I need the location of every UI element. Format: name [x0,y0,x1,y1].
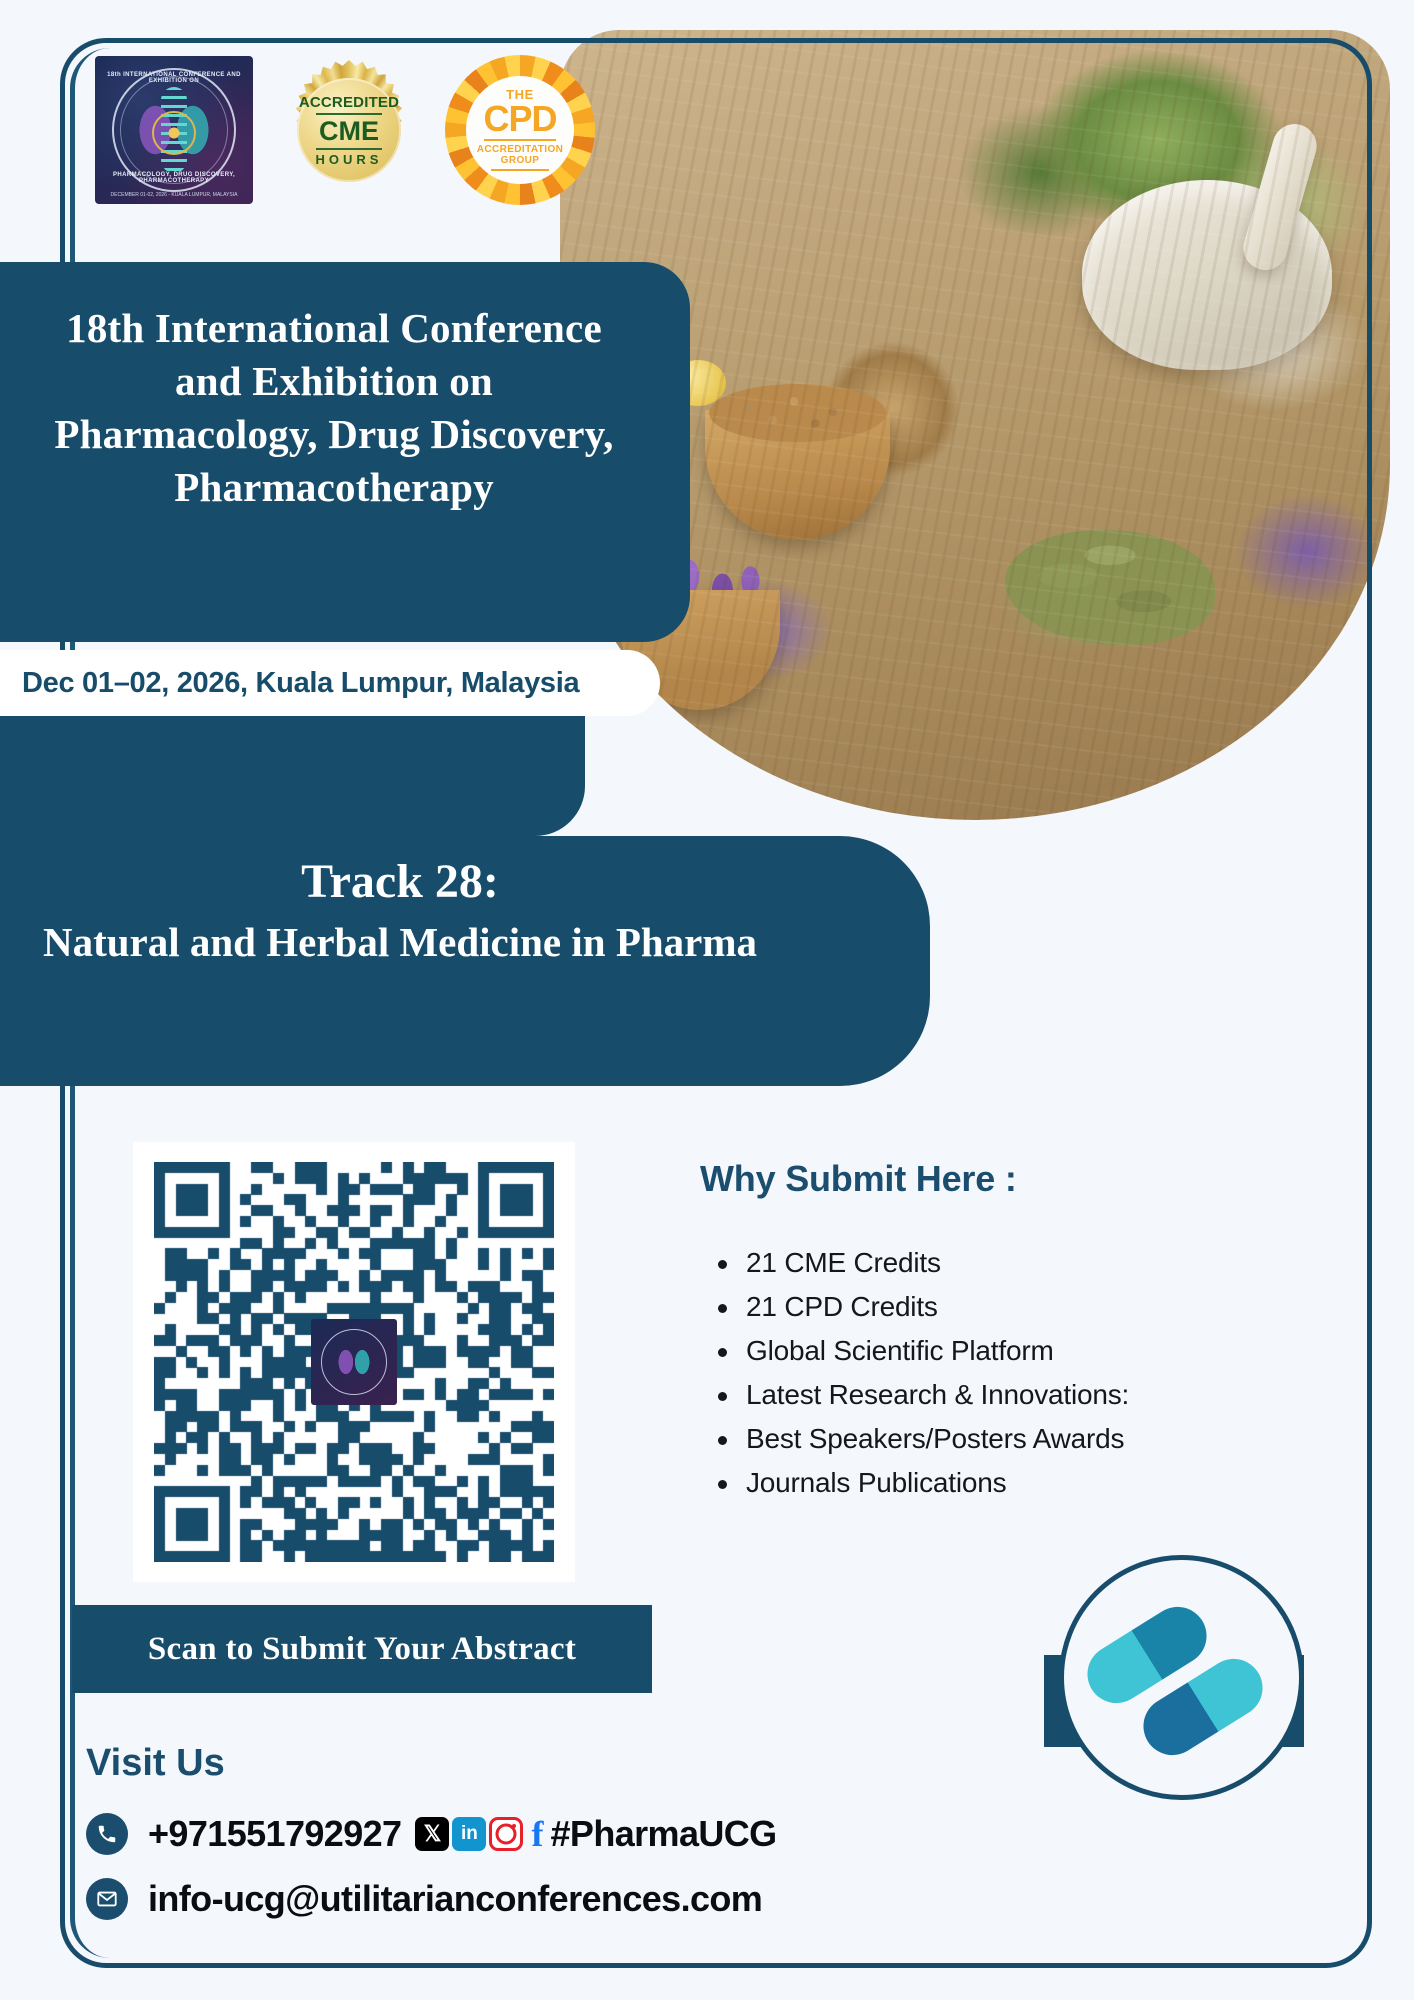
cme-accreditation-seal: ACCREDITED CME HOURS [279,60,419,200]
title-panel-tail [0,716,585,836]
envelope-icon [86,1878,128,1920]
conference-title-panel: 18th International Conference and Exhibi… [0,262,690,642]
conference-poster: 18th INTERNATIONAL CONFERENCE AND EXHIBI… [0,0,1414,2000]
cpd-divider-bottom [491,169,549,171]
list-item: Best Speakers/Posters Awards [712,1421,1332,1458]
hashtag-label: #PharmaUCG [550,1813,776,1855]
track-panel: Track 28: Natural and Herbal Medicine in… [0,836,930,1086]
date-location-text: Dec 01–02, 2026, Kuala Lumpur, Malaysia [22,667,579,700]
cpd-group-label: GROUP [501,155,540,166]
cpd-accreditation-label: ACCREDITATION [477,144,564,155]
email-address: info-ucg@utilitarianconferences.com [148,1878,762,1920]
page-title: 18th International Conference and Exhibi… [18,302,650,514]
qr-center-logo [311,1319,397,1405]
cpd-divider-top [484,139,556,141]
date-location-banner: Dec 01–02, 2026, Kuala Lumpur, Malaysia [0,650,660,716]
pestle [1238,119,1322,275]
cme-seal-face: ACCREDITED CME HOURS [297,78,401,182]
track-name: Natural and Herbal Medicine in Pharma [20,915,780,970]
why-submit-list: 21 CME Credits 21 CPD Credits Global Sci… [712,1245,1332,1509]
conference-seal-logo: 18th INTERNATIONAL CONFERENCE AND EXHIBI… [95,56,253,204]
cpd-accreditation-seal: THE CPD ACCREDITATION GROUP [445,55,595,205]
cme-divider-bottom [316,148,382,150]
track-number: Track 28: [20,854,780,909]
why-submit-heading: Why Submit Here : [700,1158,1017,1200]
seed-bowl [705,410,890,540]
cpd-label: CPD [483,102,556,136]
title-line-2: and Exhibition on [175,358,493,404]
cme-label: CME [319,118,379,145]
linkedin-icon[interactable]: in [452,1817,486,1851]
cme-accredited-label: ACCREDITED [299,94,399,111]
phone-icon [86,1813,128,1855]
scan-caption-bar: Scan to Submit Your Abstract [72,1605,652,1693]
mortar-bowl [1082,180,1332,370]
list-item: Global Scientific Platform [712,1333,1332,1370]
visit-us-heading: Visit Us [86,1742,225,1785]
contact-phone-row[interactable]: +971551792927 𝕏 in f #PharmaUCG [86,1813,777,1855]
accreditation-badges: 18th INTERNATIONAL CONFERENCE AND EXHIBI… [95,55,595,205]
list-item: Latest Research & Innovations: [712,1377,1332,1414]
qr-logo-ring [321,1329,387,1395]
logo-ring-text-date: DECEMBER 01-02, 2026 - KUALA LUMPUR, MAL… [95,192,253,198]
list-item: 21 CME Credits [712,1245,1332,1282]
list-item: Journals Publications [712,1465,1332,1502]
cme-divider-top [316,113,382,115]
qr-logo-dna-icon [337,1340,371,1384]
phone-number: +971551792927 [148,1813,401,1855]
scan-caption-text: Scan to Submit Your Abstract [148,1631,576,1668]
dried-herb-pile [1005,530,1215,645]
social-icons: 𝕏 in f [415,1817,548,1851]
facebook-icon[interactable]: f [526,1817,548,1851]
cpd-seal-face: THE CPD ACCREDITATION GROUP [466,76,574,184]
contact-email-row[interactable]: info-ucg@utilitarianconferences.com [86,1878,762,1920]
title-line-4: Pharmacotherapy [174,464,494,510]
x-twitter-icon[interactable]: 𝕏 [415,1817,449,1851]
title-line-3: Pharmacology, Drug Discovery, [54,411,613,457]
instagram-icon[interactable] [489,1817,523,1851]
qr-code-container[interactable] [133,1142,575,1582]
atom-icon [152,111,196,155]
logo-ring-text-bottom: PHARMACOLOGY, DRUG DISCOVERY, PHARMACOTH… [95,172,253,184]
title-line-1: 18th International Conference [66,305,602,351]
capsule-pills-icon [1059,1555,1304,1800]
cme-hours-label: HOURS [316,152,383,167]
list-item: 21 CPD Credits [712,1289,1332,1326]
